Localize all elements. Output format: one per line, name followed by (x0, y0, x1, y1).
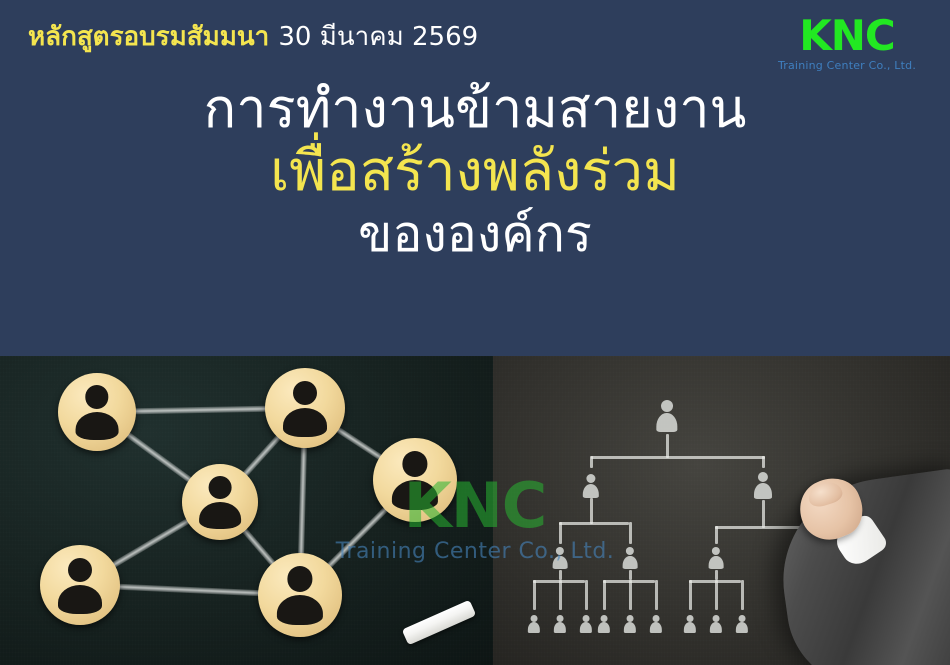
org-chart-staff-person (527, 615, 542, 634)
page-title: การทำงานข้ามสายงาน เพื่อสร้างพลังร่วม ขอ… (0, 78, 950, 264)
org-person-body (583, 484, 599, 498)
title-line-3: ขององค์กร (0, 204, 950, 264)
eyebrow-date: 30 มีนาคม 2569 (278, 22, 478, 52)
org-person-head (712, 547, 720, 555)
person-token-head (85, 385, 108, 408)
org-chart-line (590, 498, 593, 524)
org-chart-line (559, 580, 562, 610)
org-person-head (626, 547, 634, 555)
person-token-head (209, 476, 232, 499)
org-person-body (754, 483, 772, 499)
org-chart-line (715, 580, 718, 610)
person-token-head (287, 566, 312, 591)
org-person-body (710, 622, 722, 633)
person-token (258, 553, 342, 637)
person-token-body (283, 408, 327, 437)
photo-org-chart (493, 356, 950, 665)
org-chart-line (762, 456, 765, 468)
org-chart-staff-person (579, 615, 594, 634)
knc-logo-subtitle: Training Center Co., Ltd. (772, 59, 922, 72)
org-person-head (739, 615, 746, 622)
person-token-head (68, 558, 92, 582)
org-person-head (758, 472, 768, 482)
org-person-head (627, 615, 634, 622)
person-token-body (199, 502, 241, 529)
org-chart-line (629, 580, 632, 610)
suit-sleeve (770, 466, 950, 665)
person-token-head (293, 381, 317, 405)
org-chart-root-person (654, 400, 680, 433)
header-band: หลักสูตรอบรมสัมมนา 30 มีนาคม 2569 KNC Tr… (0, 0, 950, 356)
eyebrow-line: หลักสูตรอบรมสัมมนา 30 มีนาคม 2569 (28, 22, 478, 52)
org-person-head (557, 615, 564, 622)
org-chart-supervisor-person (551, 547, 569, 570)
poster-root: หลักสูตรอบรมสัมมนา 30 มีนาคม 2569 KNC Tr… (0, 0, 950, 665)
org-chart-line (741, 580, 744, 610)
org-person-body (580, 622, 592, 633)
org-person-body (709, 556, 724, 569)
photo-team-network (0, 356, 493, 665)
org-person-head (661, 400, 673, 412)
org-chart-staff-person (623, 615, 638, 634)
org-chart-line (689, 580, 692, 610)
person-token-body (277, 595, 323, 625)
person-token-body (76, 412, 119, 440)
org-chart-staff-person (735, 615, 750, 634)
org-person-body (624, 622, 636, 633)
org-person-body (553, 556, 568, 569)
org-person-head (601, 615, 608, 622)
org-chart-line (666, 434, 669, 458)
person-token (58, 373, 136, 451)
org-chart-manager-person (581, 474, 601, 499)
org-chart-staff-person (683, 615, 698, 634)
org-chart-line (629, 570, 632, 580)
org-person-body (736, 622, 748, 633)
org-chart-line (655, 580, 658, 610)
title-line-2: เพื่อสร้างพลังร่วม (0, 140, 950, 204)
person-token (265, 368, 345, 448)
knc-logo-mark: KNC (772, 14, 922, 58)
org-chart-staff-person (649, 615, 664, 634)
org-chart-line (585, 580, 588, 610)
org-chart-line (715, 570, 718, 580)
org-chart-supervisor-person (707, 547, 725, 570)
person-token (373, 438, 457, 522)
org-chart-staff-person (709, 615, 724, 634)
org-chart-line (715, 526, 718, 544)
org-chart-line (603, 580, 606, 610)
org-person-head (687, 615, 694, 622)
org-chart-line (591, 456, 765, 459)
org-chart-supervisor-person (621, 547, 639, 570)
org-chart-staff-person (597, 615, 612, 634)
eyebrow-course-label: หลักสูตรอบรมสัมมนา (28, 22, 269, 52)
org-person-body (598, 622, 610, 633)
person-token-body (58, 585, 102, 614)
org-chart-staff-person (553, 615, 568, 634)
knc-logo: KNC Training Center Co., Ltd. (772, 14, 922, 72)
org-chart-line (559, 570, 562, 580)
chalk-stick (402, 600, 477, 646)
org-chart-line (590, 456, 593, 468)
photo-strip: KNC Training Center Co., Ltd. (0, 356, 950, 665)
org-person-body (656, 413, 677, 432)
title-line-1: การทำงานข้ามสายงาน (0, 78, 950, 140)
org-chart-line (762, 500, 765, 528)
org-chart-line (559, 522, 562, 544)
org-chart-line (629, 522, 632, 544)
org-chart-line (533, 580, 536, 610)
org-person-head (583, 615, 590, 622)
org-chart-manager-person (752, 472, 774, 500)
person-token-body (392, 480, 438, 510)
org-person-body (650, 622, 662, 633)
person-token-head (402, 451, 427, 476)
org-person-head (586, 474, 595, 483)
org-person-head (531, 615, 538, 622)
org-person-body (554, 622, 566, 633)
org-person-head (713, 615, 720, 622)
person-token (40, 545, 120, 625)
org-chart-line (559, 522, 629, 525)
org-person-head (653, 615, 660, 622)
org-person-head (556, 547, 564, 555)
org-person-body (623, 556, 638, 569)
org-person-body (684, 622, 696, 633)
org-person-body (528, 622, 540, 633)
person-token (182, 464, 258, 540)
